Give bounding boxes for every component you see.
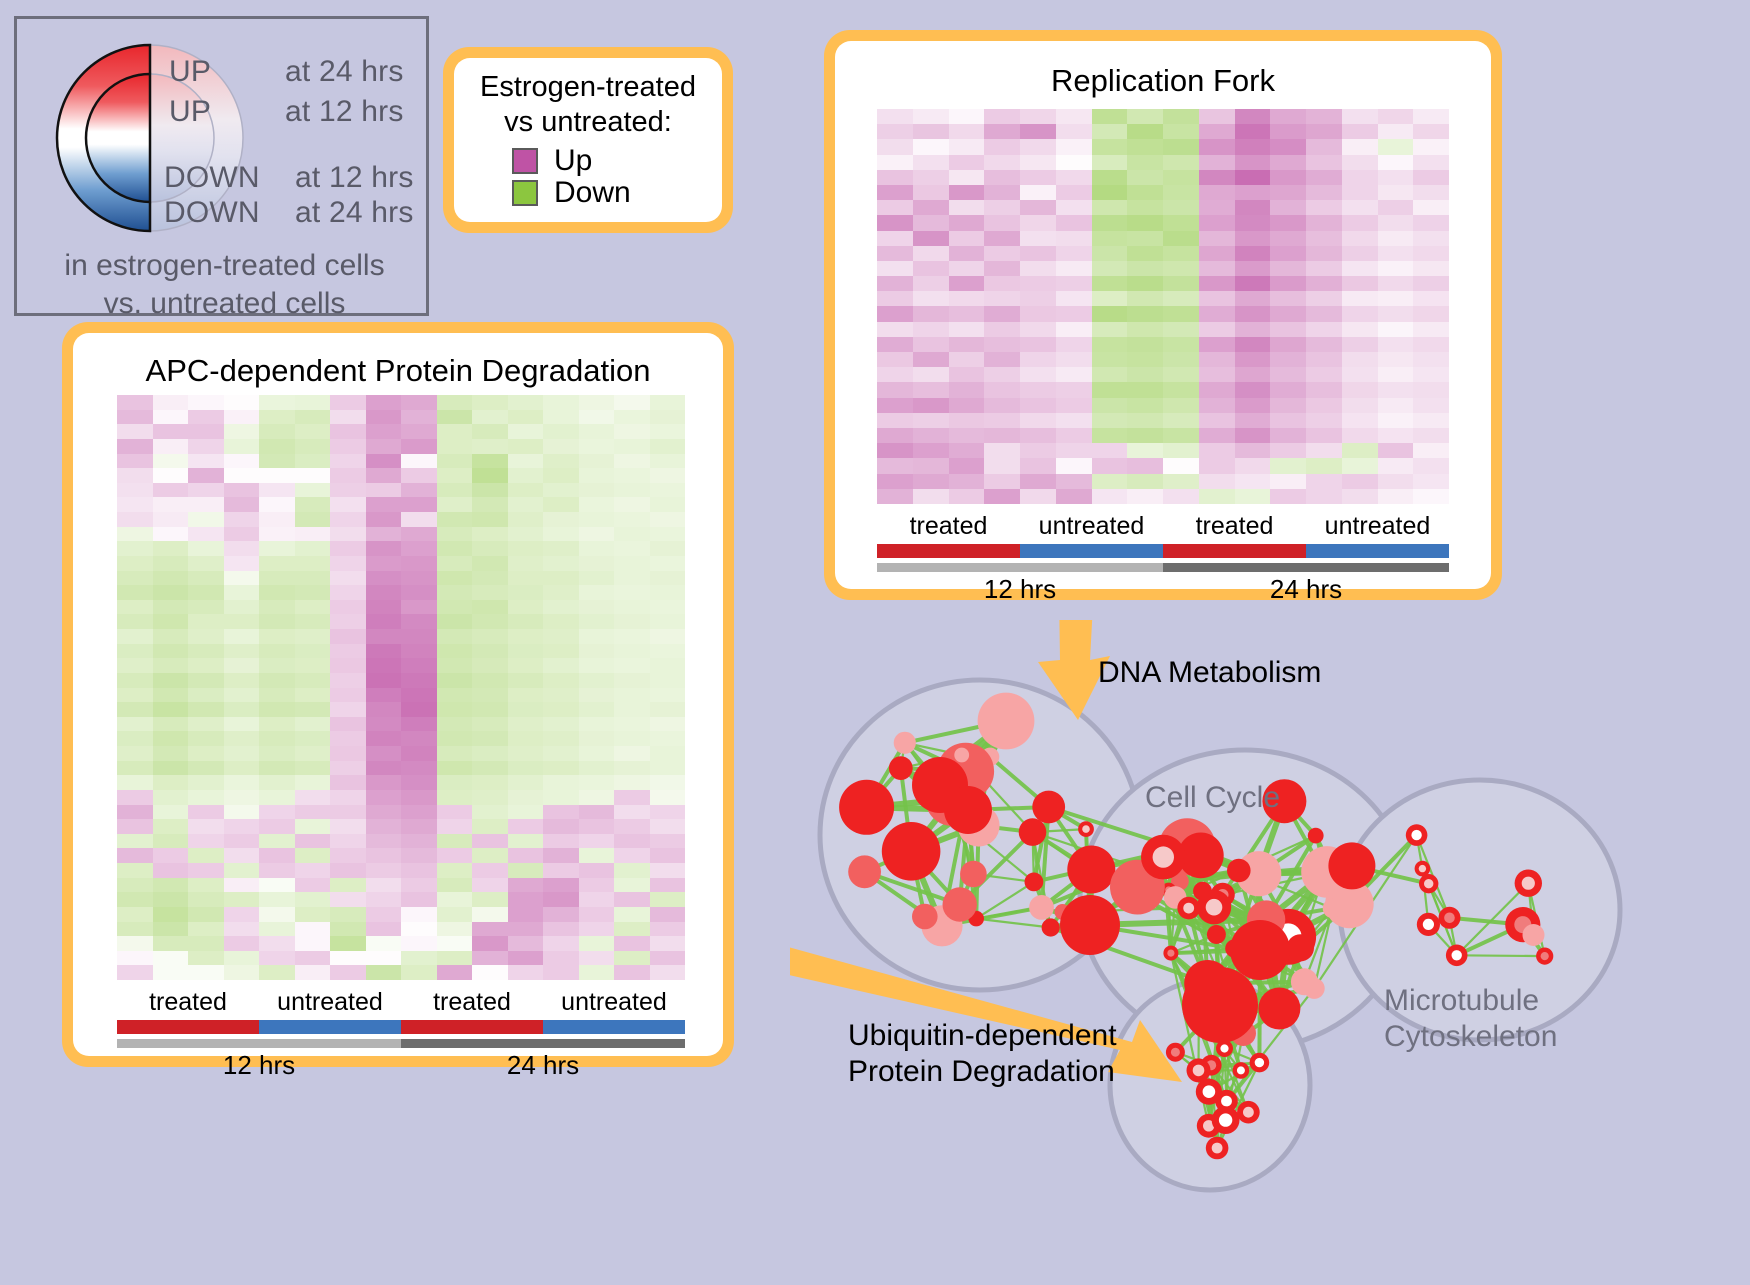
condition-bar-0 bbox=[117, 1020, 259, 1034]
replication-fork-axis: treateduntreatedtreateduntreated 12 hrs2… bbox=[877, 511, 1449, 606]
condition-label-0: treated bbox=[117, 987, 259, 1017]
network-node[interactable] bbox=[943, 887, 977, 921]
network-node-core bbox=[1212, 1143, 1223, 1154]
network-node-core bbox=[1419, 865, 1426, 872]
time-bar-0 bbox=[877, 563, 1163, 572]
network-node[interactable] bbox=[894, 732, 916, 754]
legend-title-line1: Estrogen-treated bbox=[454, 70, 722, 105]
network-node-core bbox=[1444, 913, 1455, 924]
network-node-core bbox=[1203, 1085, 1216, 1098]
network-node[interactable] bbox=[839, 780, 894, 835]
legend-item-up: Up bbox=[512, 146, 722, 176]
apc-degradation-axis: treateduntreatedtreateduntreated 12 hrs2… bbox=[117, 987, 685, 1082]
apc-degradation-inner: APC-dependent Protein Degradation treate… bbox=[73, 333, 723, 1056]
network-node[interactable] bbox=[1328, 842, 1375, 889]
network-node-core bbox=[1452, 950, 1462, 960]
condition-bar-3 bbox=[1306, 544, 1449, 558]
time-label-0: 12 hrs bbox=[877, 572, 1163, 606]
network-node[interactable] bbox=[1182, 967, 1258, 1043]
color-key-box: UP at 24 hrs UP at 12 hrs DOWN at 12 hrs… bbox=[14, 16, 429, 316]
network-node[interactable] bbox=[1523, 924, 1545, 946]
network-node-core bbox=[1183, 903, 1194, 914]
network-node[interactable] bbox=[1308, 828, 1324, 844]
network-node[interactable] bbox=[1060, 895, 1120, 955]
timepoint-color-bar bbox=[877, 563, 1449, 572]
legend-item-down: Down bbox=[512, 178, 722, 208]
timepoint-color-bar bbox=[117, 1039, 685, 1048]
network-node[interactable] bbox=[1258, 988, 1300, 1030]
key-up-12-label: UP bbox=[169, 95, 211, 129]
condition-label-0: treated bbox=[877, 511, 1020, 541]
timepoint-labels-row: 12 hrs24 hrs bbox=[117, 1048, 685, 1082]
network-node[interactable] bbox=[954, 748, 969, 763]
legend-label-down: Down bbox=[554, 178, 631, 208]
legend-swatch-down bbox=[512, 180, 538, 206]
network-label-ubiquitin-degradation: Ubiquitin-dependent Protein Degradation bbox=[848, 1018, 1118, 1090]
condition-bar-1 bbox=[259, 1020, 401, 1034]
legend-card-inner: Estrogen-treated vs untreated: Up Down bbox=[454, 58, 722, 222]
key-footer: in estrogen-treated cells vs. untreated … bbox=[17, 247, 432, 323]
network-node-core bbox=[1220, 1044, 1228, 1052]
network-node-core bbox=[1153, 846, 1174, 867]
timepoint-labels-row: 12 hrs24 hrs bbox=[877, 572, 1449, 606]
condition-label-1: untreated bbox=[1020, 511, 1163, 541]
key-up-12-time: at 12 hrs bbox=[285, 95, 404, 129]
condition-label-2: treated bbox=[1163, 511, 1306, 541]
condition-bar-1 bbox=[1020, 544, 1163, 558]
heatmap-grid bbox=[877, 109, 1449, 504]
key-up-24-time: at 24 hrs bbox=[285, 55, 404, 89]
apc-degradation-panel: APC-dependent Protein Degradation treate… bbox=[62, 322, 734, 1067]
replication-fork-heatmap bbox=[877, 109, 1449, 504]
replication-fork-panel: Replication Fork treateduntreatedtreated… bbox=[824, 30, 1502, 600]
network-node[interactable] bbox=[1042, 918, 1060, 936]
network-node[interactable] bbox=[1291, 968, 1318, 995]
network-node-core bbox=[1082, 825, 1090, 833]
key-down-24-time: at 24 hrs bbox=[295, 196, 414, 230]
apc-degradation-title: APC-dependent Protein Degradation bbox=[73, 353, 723, 389]
legend-items: Up Down bbox=[454, 146, 722, 208]
network-node-core bbox=[1255, 1058, 1264, 1067]
key-down-24-label: DOWN bbox=[164, 196, 260, 230]
microtubule-line1: Microtubule bbox=[1384, 983, 1534, 1019]
time-label-1: 24 hrs bbox=[401, 1048, 685, 1082]
condition-bar-2 bbox=[401, 1020, 543, 1034]
condition-label-1: untreated bbox=[259, 987, 401, 1017]
apc-degradation-heatmap bbox=[117, 395, 685, 980]
condition-label-3: untreated bbox=[1306, 511, 1449, 541]
condition-bar-0 bbox=[877, 544, 1020, 558]
network-node-core bbox=[1167, 950, 1174, 957]
key-footer-line1: in estrogen-treated cells bbox=[17, 247, 432, 285]
updown-legend-card: Estrogen-treated vs untreated: Up Down bbox=[443, 47, 733, 233]
condition-bar-2 bbox=[1163, 544, 1306, 558]
network-node-core bbox=[1237, 1066, 1245, 1074]
condition-bar-3 bbox=[543, 1020, 685, 1034]
network-node[interactable] bbox=[1287, 934, 1314, 961]
figure-root: UP at 24 hrs UP at 12 hrs DOWN at 12 hrs… bbox=[0, 0, 1750, 1279]
network-node[interactable] bbox=[912, 904, 938, 930]
network-node[interactable] bbox=[882, 822, 941, 881]
network-node[interactable] bbox=[889, 756, 913, 780]
network-node[interactable] bbox=[1230, 920, 1290, 980]
replication-fork-inner: Replication Fork treateduntreatedtreated… bbox=[835, 41, 1491, 589]
ubiquitin-line2: Protein Degradation bbox=[848, 1054, 1118, 1090]
network-label-cell-cycle: Cell Cycle bbox=[1145, 780, 1280, 816]
network-node-core bbox=[1206, 899, 1223, 916]
network-label-microtubule-cytoskeleton: Microtubule Cytoskeleton bbox=[1384, 983, 1534, 1055]
time-bar-1 bbox=[401, 1039, 685, 1048]
key-footer-line2: vs. untreated cells bbox=[17, 285, 432, 323]
legend-label-up: Up bbox=[554, 146, 592, 176]
network-node[interactable] bbox=[1227, 859, 1251, 883]
network-node[interactable] bbox=[960, 861, 987, 888]
condition-labels-row: treateduntreatedtreateduntreated bbox=[877, 511, 1449, 541]
condition-labels-row: treateduntreatedtreateduntreated bbox=[117, 987, 685, 1017]
legend-swatch-up bbox=[512, 148, 538, 174]
key-down-12-label: DOWN bbox=[164, 161, 260, 195]
condition-label-2: treated bbox=[401, 987, 543, 1017]
network-node[interactable] bbox=[978, 693, 1035, 750]
network-node[interactable] bbox=[1019, 818, 1047, 846]
microtubule-line2: Cytoskeleton bbox=[1384, 1019, 1534, 1055]
key-down-12-time: at 12 hrs bbox=[295, 161, 414, 195]
network-node-core bbox=[1423, 919, 1434, 930]
heatmap-grid bbox=[117, 395, 685, 980]
ubiquitin-line1: Ubiquitin-dependent bbox=[848, 1018, 1118, 1054]
time-bar-0 bbox=[117, 1039, 401, 1048]
network-node[interactable] bbox=[944, 786, 992, 834]
network-node-core bbox=[1171, 1048, 1180, 1057]
condition-color-bar bbox=[117, 1020, 685, 1034]
network-node-core bbox=[1221, 1096, 1232, 1107]
legend-title-line2: vs untreated: bbox=[454, 105, 722, 140]
network-node-core bbox=[1193, 1065, 1205, 1077]
network-node-core bbox=[1411, 830, 1421, 840]
network-node-core bbox=[1541, 952, 1549, 960]
pathway-network-diagram: DNA Metabolism Cell Cycle Microtubule Cy… bbox=[790, 620, 1750, 1280]
network-node[interactable] bbox=[1207, 925, 1226, 944]
network-label-dna-metabolism: DNA Metabolism bbox=[1098, 655, 1321, 691]
network-node[interactable] bbox=[848, 855, 881, 888]
network-node-core bbox=[1522, 877, 1535, 890]
replication-fork-title: Replication Fork bbox=[835, 63, 1491, 99]
network-node[interactable] bbox=[1078, 861, 1096, 879]
time-label-0: 12 hrs bbox=[117, 1048, 401, 1082]
key-up-24-label: UP bbox=[169, 55, 211, 89]
network-node[interactable] bbox=[1029, 895, 1054, 920]
network-node-core bbox=[1424, 879, 1433, 888]
time-bar-1 bbox=[1163, 563, 1449, 572]
condition-label-3: untreated bbox=[543, 987, 685, 1017]
network-node[interactable] bbox=[1032, 791, 1065, 824]
network-node[interactable] bbox=[1025, 873, 1044, 892]
time-label-1: 24 hrs bbox=[1163, 572, 1449, 606]
network-svg bbox=[790, 620, 1750, 1280]
condition-color-bar bbox=[877, 544, 1449, 558]
network-node-core bbox=[1219, 1113, 1232, 1126]
network-node-core bbox=[1243, 1107, 1254, 1118]
network-node[interactable] bbox=[1323, 899, 1343, 919]
